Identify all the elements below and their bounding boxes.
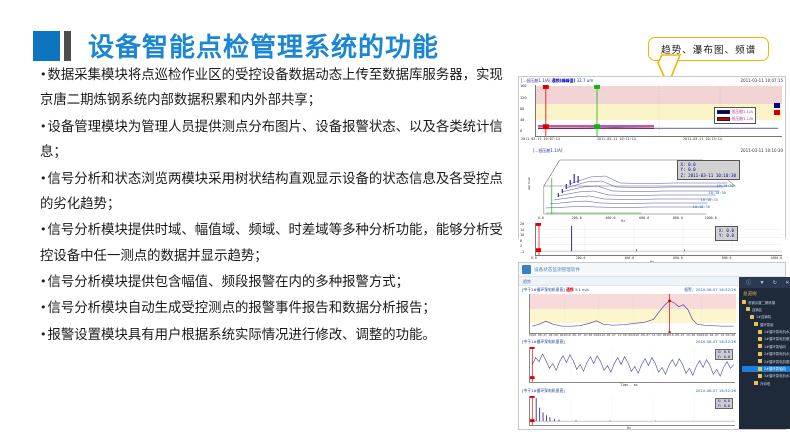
- spectrum-plot-area: X: 0.0 Y: 0.0: [535, 223, 782, 256]
- x-tick: 1000.0: [770, 256, 782, 260]
- x-tick: 2010-08-07 08:00:00: [529, 334, 563, 338]
- bottom-spectrum-x-unit: Hz: [519, 426, 739, 430]
- y-tick: 120: [520, 96, 527, 100]
- folder-icon: [754, 381, 758, 385]
- y-tick: 14: [520, 228, 524, 232]
- svg-text:10:10:33: 10:10:33: [701, 198, 718, 202]
- tree-node-selected[interactable]: 2#循环泵轴向: [742, 366, 790, 372]
- svg-text:0.0: 0.0: [538, 216, 544, 220]
- tree-node[interactable]: 1#循环泵电机垂直: [742, 336, 790, 342]
- svg-text:10:10:30: 10:10:30: [709, 191, 726, 195]
- readout-y: Y: 0.0: [718, 355, 730, 359]
- svg-text:1000.0: 1000.0: [705, 216, 717, 220]
- tree-node[interactable]: 1#循环泵轴向: [742, 343, 790, 349]
- tree-node[interactable]: 2#循环泵电机水平: [742, 351, 790, 357]
- x-tick: 400.0: [624, 256, 634, 260]
- trend-value: 32.7 um: [577, 78, 594, 83]
- x-tick: 2010-08-07 12:00:00: [598, 334, 632, 338]
- folder-icon: [750, 315, 754, 319]
- tree-node-label: 1#连铸机: [756, 314, 771, 319]
- waterfall-panel[interactable]: 2011-03-11 10:10:30 [...低压舱1.1/A]: [519, 147, 785, 222]
- trend-legend: 低压舱1.1/A 低压舱1.1/B: [714, 107, 756, 124]
- tree-node-label: 1#循环泵电机垂直: [764, 336, 790, 341]
- spectrum-series-top: [536, 223, 782, 255]
- sidebar-title: 总览树: [739, 288, 790, 299]
- bottom-spectrum-chart[interactable]: X: 0.0 Y: 0.0: [529, 396, 735, 426]
- waveform-tag: [中干1#循环泵电机垂直]: [522, 339, 565, 344]
- list-item: 信号分析模块提供包含幅值、频段报警在内的多种报警方式；: [40, 269, 510, 295]
- bottom-trend-chart[interactable]: [529, 294, 736, 334]
- screenshot-top[interactable]: 2011-03-11 10:07:15 [...低压舱1.1/A] 通频(峰峰值…: [518, 76, 786, 239]
- y-tick: 20: [520, 222, 524, 226]
- svg-text:amplitude: amplitude: [528, 177, 531, 190]
- list-item: 设备管理模块为管理人员提供测点分布图片、设备报警状态、以及各类统计信息；: [40, 114, 510, 166]
- readout-z: Z: 2011-03-11 10:10:30: [681, 173, 736, 178]
- bottom-trend-tag: [中干1#循环泵电机垂直]: [522, 287, 565, 292]
- tree-node-label: 3#循环泵电机水平: [764, 373, 790, 378]
- chip-blue[interactable]: [774, 103, 780, 108]
- bottom-trend-x-axis: 2010-08-07 08:00:00 2010-08-07 10:00:00 …: [519, 334, 739, 338]
- filter-icon[interactable]: ▼: [759, 280, 764, 286]
- tree-node-label: 冷却塔: [760, 381, 770, 386]
- app-logo-icon: [522, 265, 531, 274]
- bottom-trend-unit: 通频: [566, 287, 574, 292]
- waveform-series: [530, 347, 735, 382]
- sidebar-tree-panel[interactable]: ⓘ ▼ ↻ ✕ 总览树 首钢京唐二期炼钢 连铸区 1#连铸机 循环泵组 1#循环…: [739, 277, 790, 429]
- tree-node-label: 循环泵组: [760, 322, 774, 327]
- app-title-text: 设备状态监测管理软件: [534, 267, 580, 273]
- info-icon[interactable]: ⓘ: [746, 279, 751, 286]
- waveform-plot: X: 0.0 Y: 0.0: [529, 347, 735, 383]
- point-icon: [758, 374, 762, 378]
- spectrum-panel-top[interactable]: 20 14 10 6 2 -2: [519, 223, 785, 264]
- legend-swatch-b: [717, 117, 730, 121]
- list-item: 信号分析模块自动生成受控测点的报警事件报告和数据分析报告；: [40, 295, 510, 321]
- point-icon: [758, 352, 762, 356]
- tree-node[interactable]: 首钢京唐二期炼钢: [742, 299, 790, 305]
- chip-red[interactable]: [774, 110, 780, 115]
- refresh-icon[interactable]: ↻: [773, 280, 777, 286]
- x-tick: 0.0: [531, 256, 537, 260]
- tree-node-label: 首钢京唐二期炼钢: [748, 300, 775, 305]
- svg-text:800.0: 800.0: [673, 216, 683, 220]
- bottom-trend-alarm: 报警，2010-08-07 16:32:26: [684, 287, 736, 293]
- page-title: 设备智能点检管理系统的功能: [88, 27, 439, 64]
- x-tick: 2010-08-07 10:00:00: [563, 334, 597, 338]
- tree-node-label: 1#循环泵轴向: [764, 344, 786, 349]
- trend-x-axis: 2011-03-11 10:07:14 2011-03-11 10:11:14 …: [535, 137, 785, 147]
- bottom-trend-series: [530, 294, 736, 333]
- readout-y: Y: 0.0: [718, 404, 730, 408]
- tree-node[interactable]: 循环泵组: [742, 321, 790, 327]
- bottom-trend-value: 3.1 m/s: [575, 287, 589, 292]
- app-body: 趋势 报警，2010-08-07 16:32:26 [中干1#循环泵电机垂直] …: [519, 277, 785, 429]
- y-tick: 2: [520, 244, 522, 248]
- folder-icon: [754, 322, 758, 326]
- svg-text:10:10:30: 10:10:30: [717, 184, 734, 188]
- x-tick: 2010-08-07 16:00:00: [666, 334, 700, 338]
- svg-text:Hz: Hz: [621, 219, 625, 222]
- title-accent-block: [33, 31, 60, 61]
- list-item: 信号分析和状态浏览两模块采用树状结构直观显示设备的状态信息及各受控点的劣化趋势；: [40, 166, 510, 218]
- list-item: 信号分析模块提供时域、幅值域、频域、时差域等多种分析功能，能够分析受控设备中任一…: [40, 217, 510, 269]
- y-tick: 80: [520, 107, 524, 111]
- bottom-spectrum-series: [530, 396, 735, 425]
- app-titlebar: 设备状态监测管理软件: [519, 263, 785, 277]
- trend-measure: 通频(峰峰值): [552, 78, 576, 83]
- spectrum-readout-top: X: 0.0 Y: 0.0: [715, 226, 738, 241]
- trend-timestamp: 2011-03-11 10:07:15: [741, 78, 783, 83]
- x-tick: 200.0: [576, 256, 586, 260]
- tree-node-label: 2#循环泵电机水平: [764, 351, 790, 356]
- bottom-trend-header: 报警，2010-08-07 16:32:26 [中干1#循环泵电机垂直] 通频 …: [519, 286, 739, 294]
- tree-node[interactable]: 1#循环泵电机水平: [742, 329, 790, 335]
- tree-node[interactable]: 3#循环泵电机水平: [742, 373, 790, 379]
- device-tree[interactable]: 首钢京唐二期炼钢 连铸区 1#连铸机 循环泵组 1#循环泵电机水平 1#循环泵电…: [739, 299, 790, 386]
- y-tick: 160: [520, 84, 527, 88]
- folder-icon: [742, 300, 746, 304]
- title-accent-bar: [64, 31, 71, 61]
- waterfall-readout: X: 0.0 Y: 0.0 Z: 2011-03-11 10:10:30: [677, 160, 740, 180]
- tab-trend[interactable]: 趋势: [519, 277, 739, 286]
- readout-x: X: 0.0: [718, 399, 730, 403]
- x-tick: 2011-03-11 10:15:14: [683, 137, 722, 141]
- list-item: 数据采集模块将点巡检作业区的受控设备数据动态上传至数据库服务器，实现京唐二期炼钢…: [40, 62, 510, 114]
- bottom-spectrum-readout: X: 0.0 Y: 0.0: [715, 398, 733, 409]
- bottom-spectrum-timestamp: 2010-08-07 16:32:26: [696, 388, 736, 393]
- trend-header-top: 2011-03-11 10:07:15 [...低压舱1.1/A] 通频(峰峰值…: [519, 77, 785, 85]
- waterfall-series: 10:10:3010:10:30 10:10:3310:10:30 0.0200…: [522, 156, 782, 222]
- trend-chart-top[interactable]: 160 120 80 40 0: [535, 85, 782, 137]
- x-tick: 2010-08-07 18:00:00: [701, 334, 735, 338]
- tree-node-label: 2#循环泵电机垂直: [764, 359, 790, 364]
- tree-node[interactable]: 冷却塔: [742, 380, 790, 386]
- point-icon: [758, 337, 762, 341]
- x-tick: 600.0: [673, 256, 683, 260]
- spectrum-chart-top[interactable]: 20 14 10 6 2 -2: [535, 223, 782, 256]
- y-tick: 6: [520, 239, 522, 243]
- legend-label-a: 低压舱1.1/A: [732, 109, 753, 115]
- trend-plot-area: 低压舱1.1/A 低压舱1.1/B: [535, 85, 782, 137]
- waterfall-chart[interactable]: 10:10:3010:10:30 10:10:3310:10:30 0.0200…: [522, 156, 782, 222]
- waterfall-header: 2011-03-11 10:10:30 [...低压舱1.1/A]: [519, 147, 785, 155]
- tree-node[interactable]: 1#连铸机: [742, 314, 790, 320]
- svg-text:400.0: 400.0: [605, 216, 615, 220]
- x-tick: 2011-03-11 10:11:14: [597, 137, 636, 141]
- x-tick: 2011-03-11 10:07:14: [521, 137, 560, 141]
- y-tick: 0: [520, 129, 522, 133]
- slide-title-row: 设备智能点检管理系统的功能: [33, 27, 439, 64]
- bottom-spectrum-tag: [中干1#循环泵电机垂直]: [522, 388, 565, 393]
- point-icon: [758, 359, 762, 363]
- readout-y: Y: 0.0: [719, 233, 734, 238]
- waveform-readout: X: 0.0 Y: 0.0: [715, 349, 733, 360]
- trend-panel-top[interactable]: 2011-03-11 10:07:15 [...低压舱1.1/A] 通频(峰峰值…: [519, 77, 785, 147]
- callout-label-top: 趋势、瀑布图、频谱: [648, 37, 769, 61]
- y-tick: 10: [520, 233, 524, 237]
- point-icon: [758, 344, 762, 348]
- list-item: 报警设置模块具有用户根据系统实际情况进行修改、调整的功能。: [40, 322, 510, 348]
- bottom-spectrum-header: 2010-08-07 16:32:26 [中干1#循环泵电机垂直]: [519, 387, 739, 395]
- x-tick: 800.0: [722, 256, 732, 260]
- bottom-spectrum-plot: X: 0.0 Y: 0.0: [529, 396, 735, 426]
- tree-node-label: 连铸区: [752, 307, 762, 312]
- slide: 设备智能点检管理系统的功能 数据采集模块将点巡检作业区的受控设备数据动态上传至数…: [0, 0, 790, 444]
- svg-text:10:10:30: 10:10:30: [693, 205, 710, 209]
- svg-text:600.0: 600.0: [639, 216, 649, 220]
- waterfall-timestamp: 2011-03-11 10:10:30: [741, 148, 783, 153]
- sidebar-toolbar[interactable]: ⓘ ▼ ↻ ✕: [739, 277, 790, 288]
- y-tick: -2: [520, 250, 524, 254]
- legend-entry: 低压舱1.1/B: [717, 116, 753, 122]
- y-tick: 40: [520, 118, 524, 122]
- trend-tag: [...低压舱1.1/A]: [521, 78, 550, 83]
- waveform-chart[interactable]: X: 0.0 Y: 0.0: [529, 347, 735, 383]
- screenshot-bottom[interactable]: 设备状态监测管理软件 趋势 报警，2010-08-07 16:32:26 [中干…: [518, 262, 786, 430]
- legend-entry: 低压舱1.1/A: [717, 109, 753, 115]
- point-icon: [758, 367, 762, 371]
- tree-node[interactable]: 连铸区: [742, 306, 790, 312]
- tree-node-label: 2#循环泵轴向: [764, 366, 786, 371]
- folder-icon: [746, 307, 750, 311]
- legend-swatch-a: [717, 110, 730, 114]
- legend-label-b: 低压舱1.1/B: [732, 116, 753, 122]
- waveform-timestamp: 2010-08-07 16:32:26: [696, 339, 736, 344]
- bullet-list: 数据采集模块将点巡检作业区的受控设备数据动态上传至数据库服务器，实现京唐二期炼钢…: [40, 62, 510, 348]
- close-icon[interactable]: ✕: [785, 280, 789, 286]
- point-icon: [758, 330, 762, 334]
- bottom-trend-plot: [529, 294, 736, 334]
- x-tick: 2010-08-07 14:00:00: [632, 334, 666, 338]
- waveform-header: 2010-08-07 16:32:26 [中干1#循环泵电机垂直]: [519, 338, 739, 346]
- app-main-area[interactable]: 趋势 报警，2010-08-07 16:32:26 [中干1#循环泵电机垂直] …: [519, 277, 739, 429]
- waterfall-tag: [...低压舱1.1/A]: [533, 148, 562, 153]
- readout-x: X: 0.0: [718, 350, 730, 354]
- trend-color-chips[interactable]: [774, 103, 780, 115]
- tree-node[interactable]: 2#循环泵电机垂直: [742, 358, 790, 364]
- tree-node-label: 1#循环泵电机水平: [764, 329, 790, 334]
- svg-text:200.0: 200.0: [572, 216, 582, 220]
